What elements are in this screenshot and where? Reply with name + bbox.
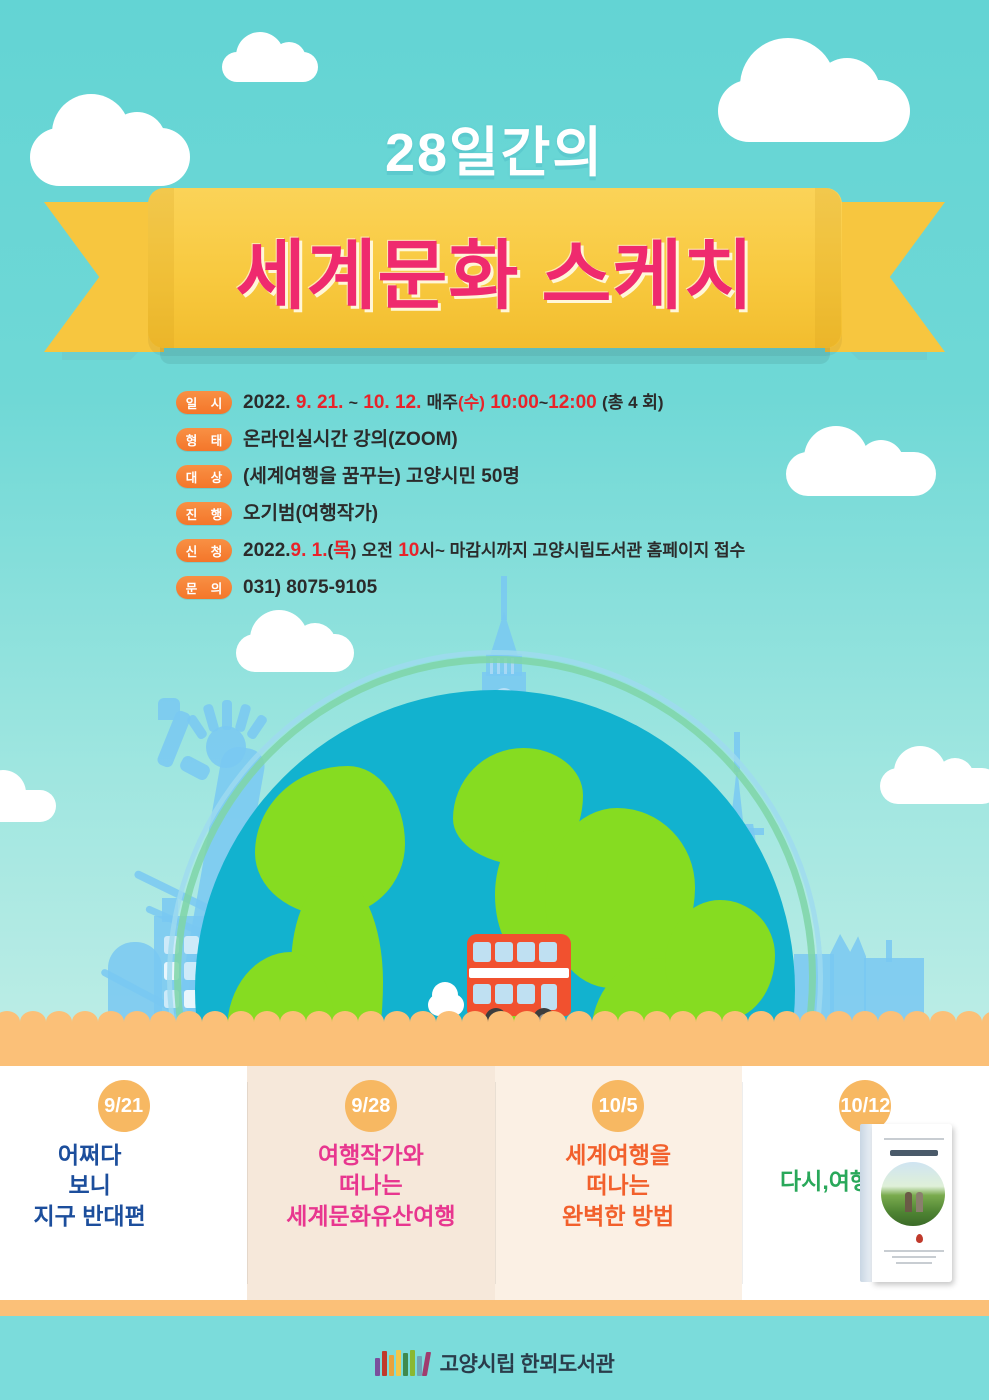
logo-bar	[389, 1355, 394, 1376]
banner-fold-right	[815, 188, 841, 348]
logo-bar	[396, 1350, 401, 1376]
session-cards: 9/21 어쩌다 보니 지구 반대편	[0, 1066, 989, 1300]
book-person-figure	[916, 1192, 923, 1212]
scallop-bump	[98, 1011, 124, 1033]
library-name: 고양시립 한뫼도서관	[440, 1348, 615, 1378]
book-cover-image	[860, 1124, 952, 1282]
title-banner: 세계문화 스케치	[0, 188, 989, 364]
scallop-bump	[254, 1011, 280, 1033]
scallop-bump	[72, 1011, 98, 1033]
session-card-1[interactable]: 9/21 어쩌다 보니 지구 반대편	[0, 1066, 247, 1300]
scallop-bump	[800, 1011, 826, 1033]
info-row: 진 행 오기범(여행작가)	[176, 499, 966, 527]
scallop-bump	[644, 1011, 670, 1033]
cloud-icon	[222, 52, 318, 82]
session-title: 여행작가와 떠나는 세계문화유산여행	[247, 1140, 494, 1231]
scallop-bump	[956, 1011, 982, 1033]
poster-pretitle: 28일간의	[0, 108, 989, 187]
info-value-apply: 2022.9. 1.(목) 오전 10시~ 마감시까지 고양시립도서관 홈페이지…	[243, 541, 745, 560]
scallop-bump	[358, 1011, 384, 1033]
session-card-2[interactable]: 9/28 여행작가와 떠나는 세계문화유산여행	[247, 1066, 494, 1300]
info-value-audience: (세계여행을 꿈꾸는) 고양시민 50명	[243, 467, 520, 486]
scallop-bump	[384, 1011, 410, 1033]
scallop-bump	[904, 1011, 930, 1033]
session-date-badge: 10/5	[592, 1080, 644, 1132]
scallop-bump	[670, 1011, 696, 1033]
book-tagline	[884, 1138, 944, 1140]
info-label-audience: 대 상	[176, 465, 232, 488]
scallop-bump	[826, 1011, 852, 1033]
scallop-bump	[150, 1011, 176, 1033]
banner-tail-left	[44, 202, 164, 352]
scallop-bump	[722, 1011, 748, 1033]
books-logo-icon	[375, 1350, 429, 1376]
book-pin-icon	[916, 1234, 923, 1243]
scallop-bump	[280, 1011, 306, 1033]
banner-shadow	[160, 346, 830, 364]
info-row: 대 상 (세계여행을 꿈꾸는) 고양시민 50명	[176, 462, 966, 490]
logo-bar	[422, 1352, 431, 1376]
session-date-badge: 9/21	[98, 1080, 150, 1132]
scallop-bump	[176, 1011, 202, 1033]
book-credit-line	[892, 1256, 936, 1258]
book-credit-line	[896, 1262, 932, 1264]
scallop-bump	[462, 1011, 488, 1033]
session-card-3[interactable]: 10/5 세계여행을 떠나는 완벽한 방법	[495, 1066, 742, 1300]
scallop-bump	[46, 1011, 72, 1033]
book-photo	[881, 1162, 945, 1226]
poster-title: 세계문화 스케치	[148, 214, 842, 324]
session-date-badge: 9/28	[345, 1080, 397, 1132]
banner-fold-left	[148, 188, 174, 348]
scallop-bump	[228, 1011, 254, 1033]
logo-bar	[375, 1358, 380, 1376]
info-value-format: 온라인실시간 강의(ZOOM)	[243, 430, 458, 449]
scallop-bump	[514, 1011, 540, 1033]
book-front	[872, 1124, 952, 1282]
info-label-host: 진 행	[176, 502, 232, 525]
session-title: 세계여행을 떠나는 완벽한 방법	[495, 1140, 742, 1231]
scallop-bump	[592, 1011, 618, 1033]
info-label-date: 일 시	[176, 391, 232, 414]
banner-tail-right	[825, 202, 945, 352]
scallop-bump	[20, 1011, 46, 1033]
book-person-figure	[905, 1192, 912, 1212]
banner-body: 세계문화 스케치	[148, 188, 842, 348]
scallop-bump	[566, 1011, 592, 1033]
scallop-bump	[0, 1011, 20, 1033]
info-value-host: 오기범(여행작가)	[243, 504, 378, 523]
scallop-bump	[410, 1011, 436, 1033]
info-value-date: 2022. 9. 21. ~ 10. 12. 매주(수) 10:00~12:00…	[243, 393, 664, 412]
scallop-bump	[618, 1011, 644, 1033]
logo-bar	[410, 1350, 415, 1376]
event-poster: 28일간의 세계문화 스케치 일 시 2022. 9. 21. ~ 10. 12…	[0, 0, 989, 1400]
scallop-bump	[488, 1011, 514, 1033]
travel-illustration	[0, 560, 989, 1040]
logo-bar	[417, 1356, 422, 1376]
info-label-format: 형 태	[176, 428, 232, 451]
scallop-bump	[436, 1011, 462, 1033]
scallop-bump	[202, 1011, 228, 1033]
info-row: 일 시 2022. 9. 21. ~ 10. 12. 매주(수) 10:00~1…	[176, 388, 966, 416]
poster-footer: 고양시립 한뫼도서관	[0, 1326, 989, 1400]
scallop-bump	[540, 1011, 566, 1033]
section-divider-bottom	[0, 1300, 989, 1326]
scallop-bump	[696, 1011, 722, 1033]
book-title-line	[890, 1150, 938, 1156]
logo-bar	[403, 1353, 408, 1376]
info-row: 형 태 온라인실시간 강의(ZOOM)	[176, 425, 966, 453]
scallop-bump	[306, 1011, 332, 1033]
info-label-apply: 신 청	[176, 539, 232, 562]
session-title: 어쩌다 보니 지구 반대편	[0, 1140, 213, 1231]
book-credit-line	[884, 1250, 944, 1252]
logo-bar	[382, 1351, 387, 1376]
scallop-bump	[878, 1011, 904, 1033]
scallop-bump	[774, 1011, 800, 1033]
scallop-bump	[124, 1011, 150, 1033]
scallop-bump	[748, 1011, 774, 1033]
library-logo: 고양시립 한뫼도서관	[375, 1348, 615, 1378]
scallop-bump	[930, 1011, 956, 1033]
scallop-bump	[852, 1011, 878, 1033]
scallop-bump	[332, 1011, 358, 1033]
section-divider-top	[0, 1022, 989, 1066]
